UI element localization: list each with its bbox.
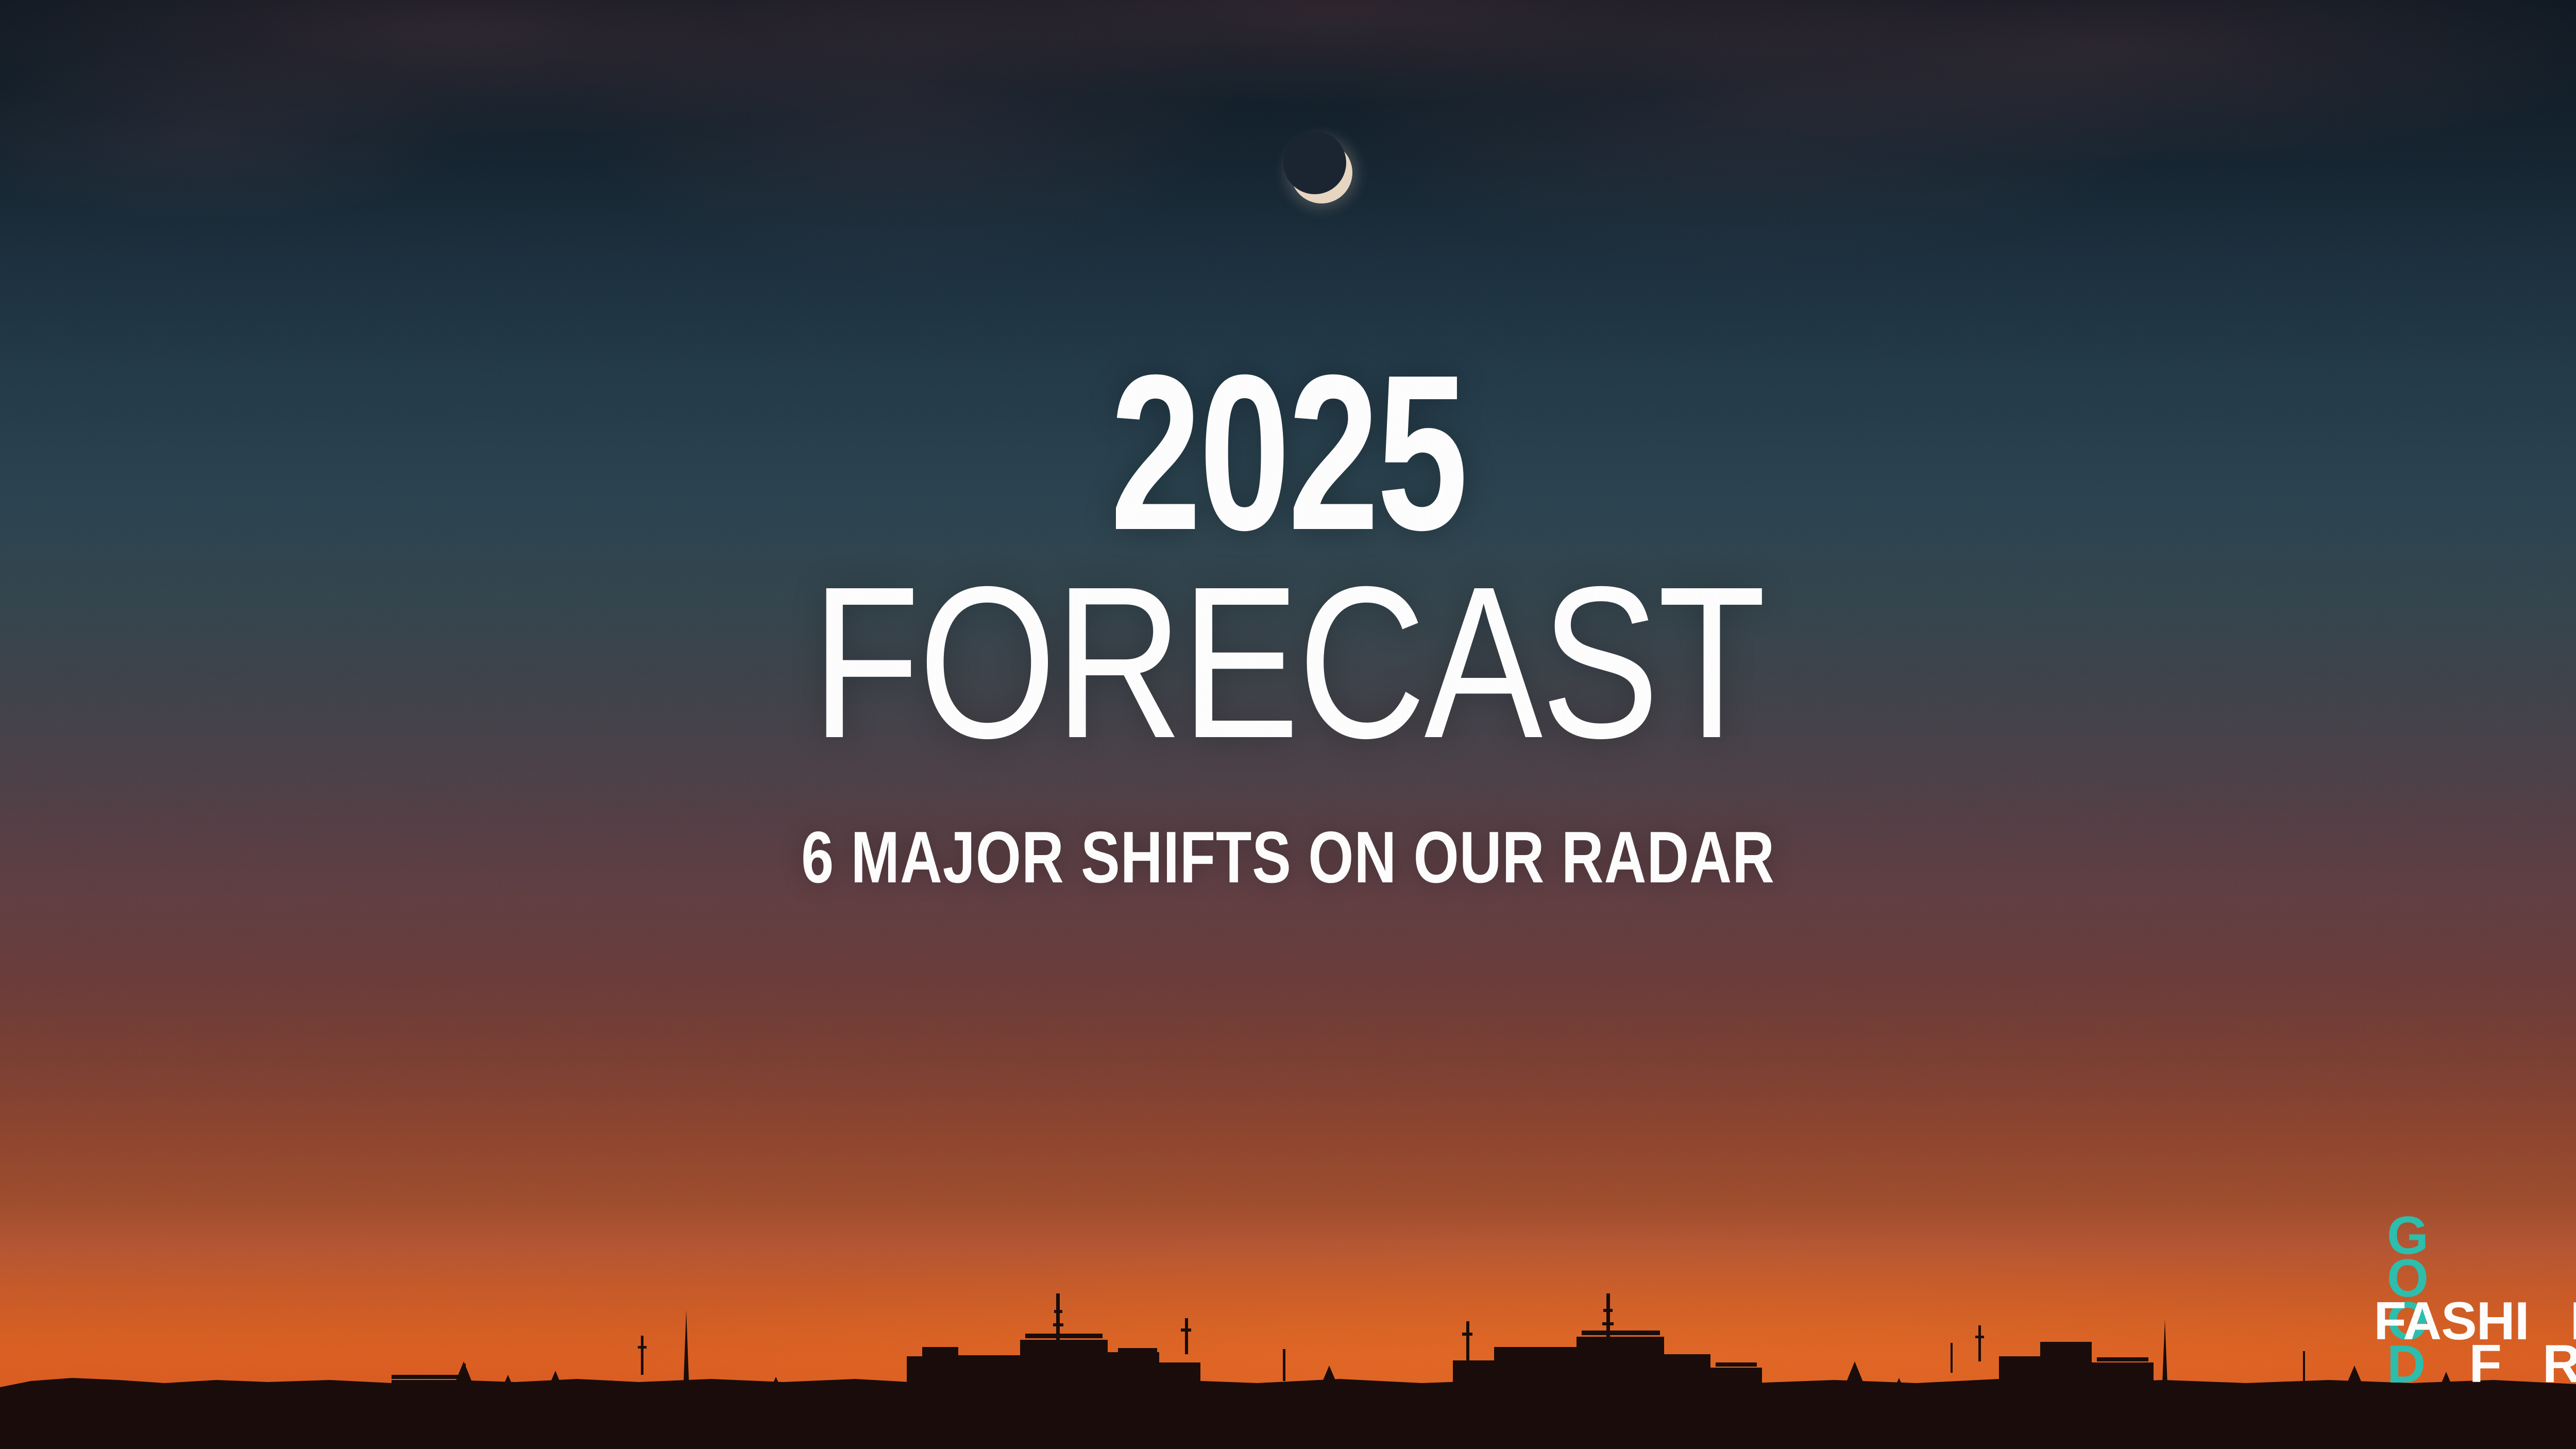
- crescent-moon: [1291, 142, 1352, 203]
- fashion-for-good-logo[interactable]: G O O D FASHION FOR: [2287, 1215, 2504, 1385]
- poster-canvas: 2025 FORECAST 6 MAJOR SHIFTS ON OUR RADA…: [0, 0, 2576, 1449]
- moon-shadow-mask: [1283, 131, 1346, 194]
- logo-for-suffix: R: [2543, 1334, 2576, 1394]
- cloud-streaks-overlay: [0, 0, 2576, 522]
- logo-for-prefix: F: [2469, 1334, 2501, 1394]
- city-skyline-silhouette: [0, 1233, 2576, 1449]
- logo-row-for: FOR: [2383, 1300, 2576, 1429]
- logo-for-o-slot: O: [2501, 1334, 2543, 1394]
